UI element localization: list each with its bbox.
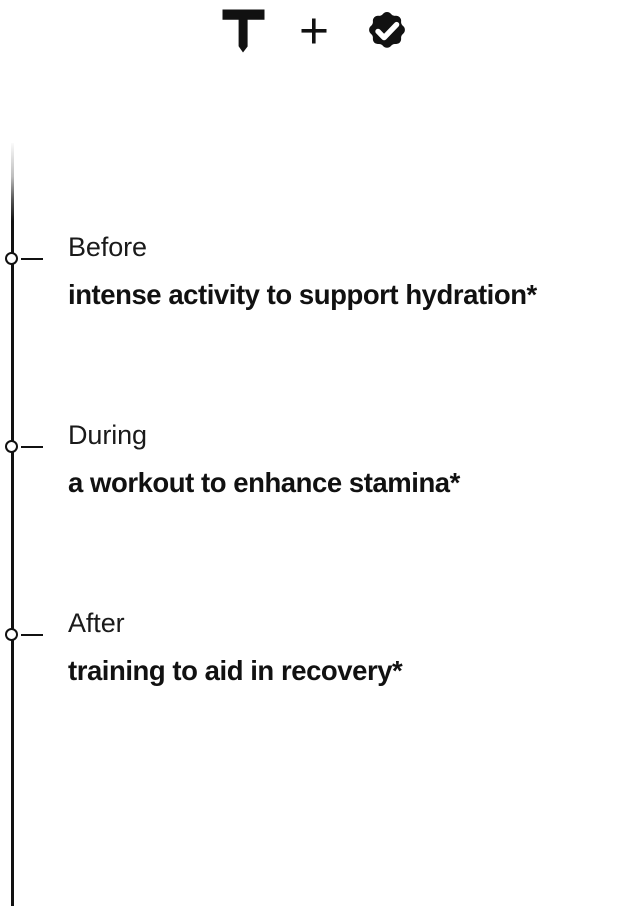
timeline-node-knob [5, 628, 18, 641]
timeline-node-knob [5, 252, 18, 265]
timeline-entry-label: During [68, 418, 628, 452]
timeline-entry-text: After training to aid in recovery* [68, 606, 628, 688]
timeline-node-tick [21, 258, 43, 260]
timeline-entry-description: a workout to enhance stamina* [68, 466, 628, 500]
timeline-node-circle-icon [0, 625, 52, 645]
brand-lockup-inner [221, 9, 412, 57]
timeline-node-tick [21, 446, 43, 448]
timeline-node-circle-icon [0, 249, 52, 269]
timeline-node-tick [21, 634, 43, 636]
letter-t-logo-icon [221, 8, 266, 59]
plus-icon [300, 17, 328, 50]
timeline-entry-text: Before intense activity to support hydra… [68, 230, 628, 312]
brand-lockup [0, 0, 633, 70]
timeline-entry-text: During a workout to enhance stamina* [68, 418, 628, 500]
timeline-node-circle-icon [0, 437, 52, 457]
timeline-node-knob [5, 440, 18, 453]
timeline-entry-description: intense activity to support hydration* [68, 278, 628, 312]
timeline-entry-label: Before [68, 230, 628, 264]
timeline-entry-description: training to aid in recovery* [68, 654, 628, 688]
verified-badge-check-icon [362, 6, 412, 61]
timeline-entry-label: After [68, 606, 628, 640]
